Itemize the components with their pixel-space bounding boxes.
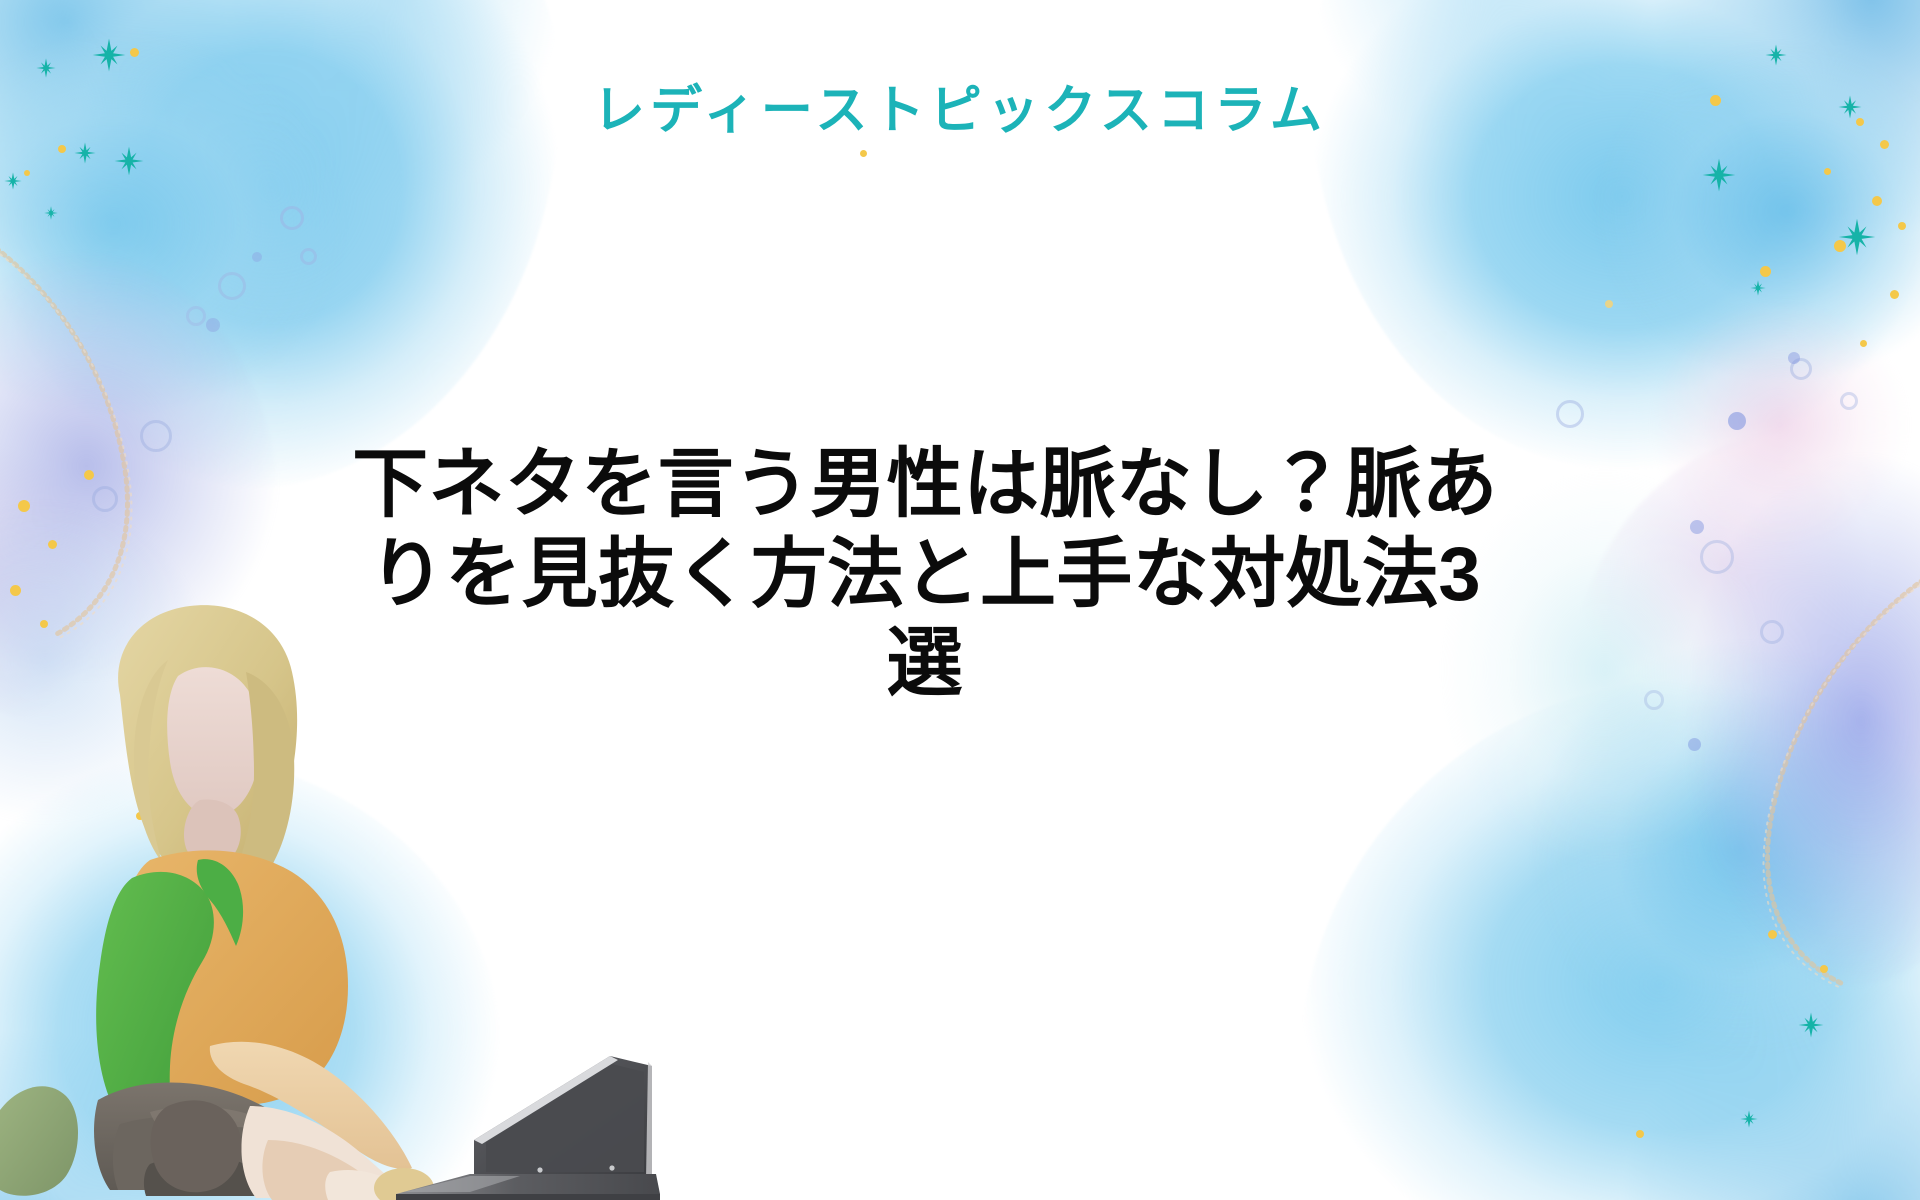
periwinkle-dot: [1728, 412, 1746, 430]
gold-dot: [84, 470, 94, 480]
bubble-ring: [1790, 358, 1812, 380]
star-sparkle-icon: [1798, 1012, 1824, 1038]
gold-dot: [1636, 1130, 1644, 1138]
kicker-label: レディーストピックスコラム: [0, 68, 1920, 143]
star-sparkle-icon: [114, 146, 144, 176]
gold-dot: [1834, 240, 1846, 252]
page-title: 下ネタを言う男性は脈なし？脈あ りを見抜く方法と上手な対処法3 選: [300, 440, 1550, 709]
eyecatch-canvas: レディーストピックスコラム 下ネタを言う男性は脈なし？脈あ りを見抜く方法と上手…: [0, 0, 1920, 1200]
gold-dot: [1820, 965, 1828, 973]
gold-dot: [1860, 340, 1867, 347]
bubble-ring: [1840, 392, 1858, 410]
bubble-ring: [300, 248, 317, 265]
gold-dot: [1824, 168, 1831, 175]
gold-dot: [1898, 222, 1906, 230]
periwinkle-dot: [252, 252, 262, 262]
watercolor-blob-bottom-right: [1300, 680, 1920, 1200]
watercolor-blob-lavender-right: [1570, 430, 1920, 990]
gold-dot: [58, 145, 66, 153]
star-sparkle-icon: [4, 172, 22, 190]
gold-dot: [1768, 930, 1777, 939]
bubble-ring: [1700, 540, 1734, 574]
page-title-line: 選: [300, 619, 1550, 709]
gold-dot: [24, 170, 30, 176]
bubble-ring: [218, 272, 246, 300]
periwinkle-dot: [206, 318, 220, 332]
bubble-ring: [1556, 400, 1584, 428]
star-sparkle-icon: [1740, 1110, 1758, 1128]
page-title-line: りを見抜く方法と上手な対処法3: [300, 530, 1550, 620]
periwinkle-dot: [1788, 352, 1800, 364]
gold-dot: [1872, 196, 1882, 206]
bubble-ring: [1644, 690, 1664, 710]
star-sparkle-icon: [1750, 280, 1766, 296]
star-sparkle-icon: [92, 38, 126, 72]
star-sparkle-icon: [44, 206, 58, 220]
gold-dot: [1890, 290, 1899, 299]
gold-dot: [130, 48, 139, 57]
bubble-ring: [1760, 620, 1784, 644]
gold-dot: [1605, 300, 1613, 308]
star-sparkle-icon: [74, 142, 96, 164]
star-sparkle-icon: [1702, 158, 1736, 192]
periwinkle-dot: [1688, 738, 1701, 751]
page-title-line: 下ネタを言う男性は脈なし？脈あ: [300, 440, 1550, 530]
gold-shimmer-ribbon-right: [1600, 560, 1920, 990]
periwinkle-dot: [1690, 520, 1704, 534]
bubble-ring: [186, 306, 206, 326]
star-sparkle-icon: [1838, 218, 1876, 256]
bubble-ring: [280, 206, 304, 230]
bubble-ring: [140, 420, 172, 452]
gold-dot: [1760, 266, 1771, 277]
gold-dot: [860, 150, 867, 157]
watercolor-blob-bottom-right-inner: [1530, 640, 1920, 1060]
watercolor-blob-pink-right: [1650, 300, 1910, 550]
star-sparkle-icon: [1765, 44, 1787, 66]
